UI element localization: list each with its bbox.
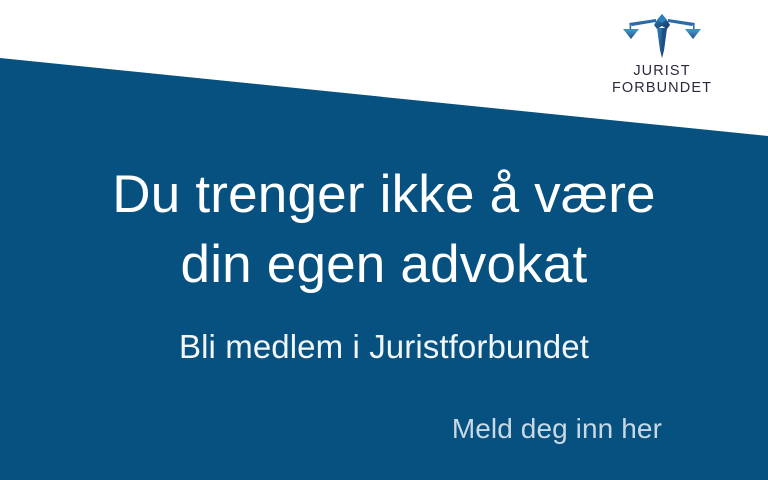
logo-word-forbundet: FORBUNDET <box>602 81 722 96</box>
advertisement-banner: JURIST FORBUNDET Du trenger ikke å være … <box>0 0 768 480</box>
headline-line-1: Du trenger ikke å være <box>0 160 768 230</box>
headline-line-2: din egen advokat <box>0 230 768 300</box>
headline: Du trenger ikke å være din egen advokat <box>0 160 768 300</box>
scales-of-justice-icon <box>623 14 701 58</box>
juristforbundet-logo[interactable]: JURIST FORBUNDET <box>602 14 722 95</box>
cta-link-meld-deg-inn-her[interactable]: Meld deg inn her <box>0 412 768 446</box>
subtitle: Bli medlem i Juristforbundet <box>0 327 768 367</box>
logo-word-jurist: JURIST <box>602 64 722 79</box>
